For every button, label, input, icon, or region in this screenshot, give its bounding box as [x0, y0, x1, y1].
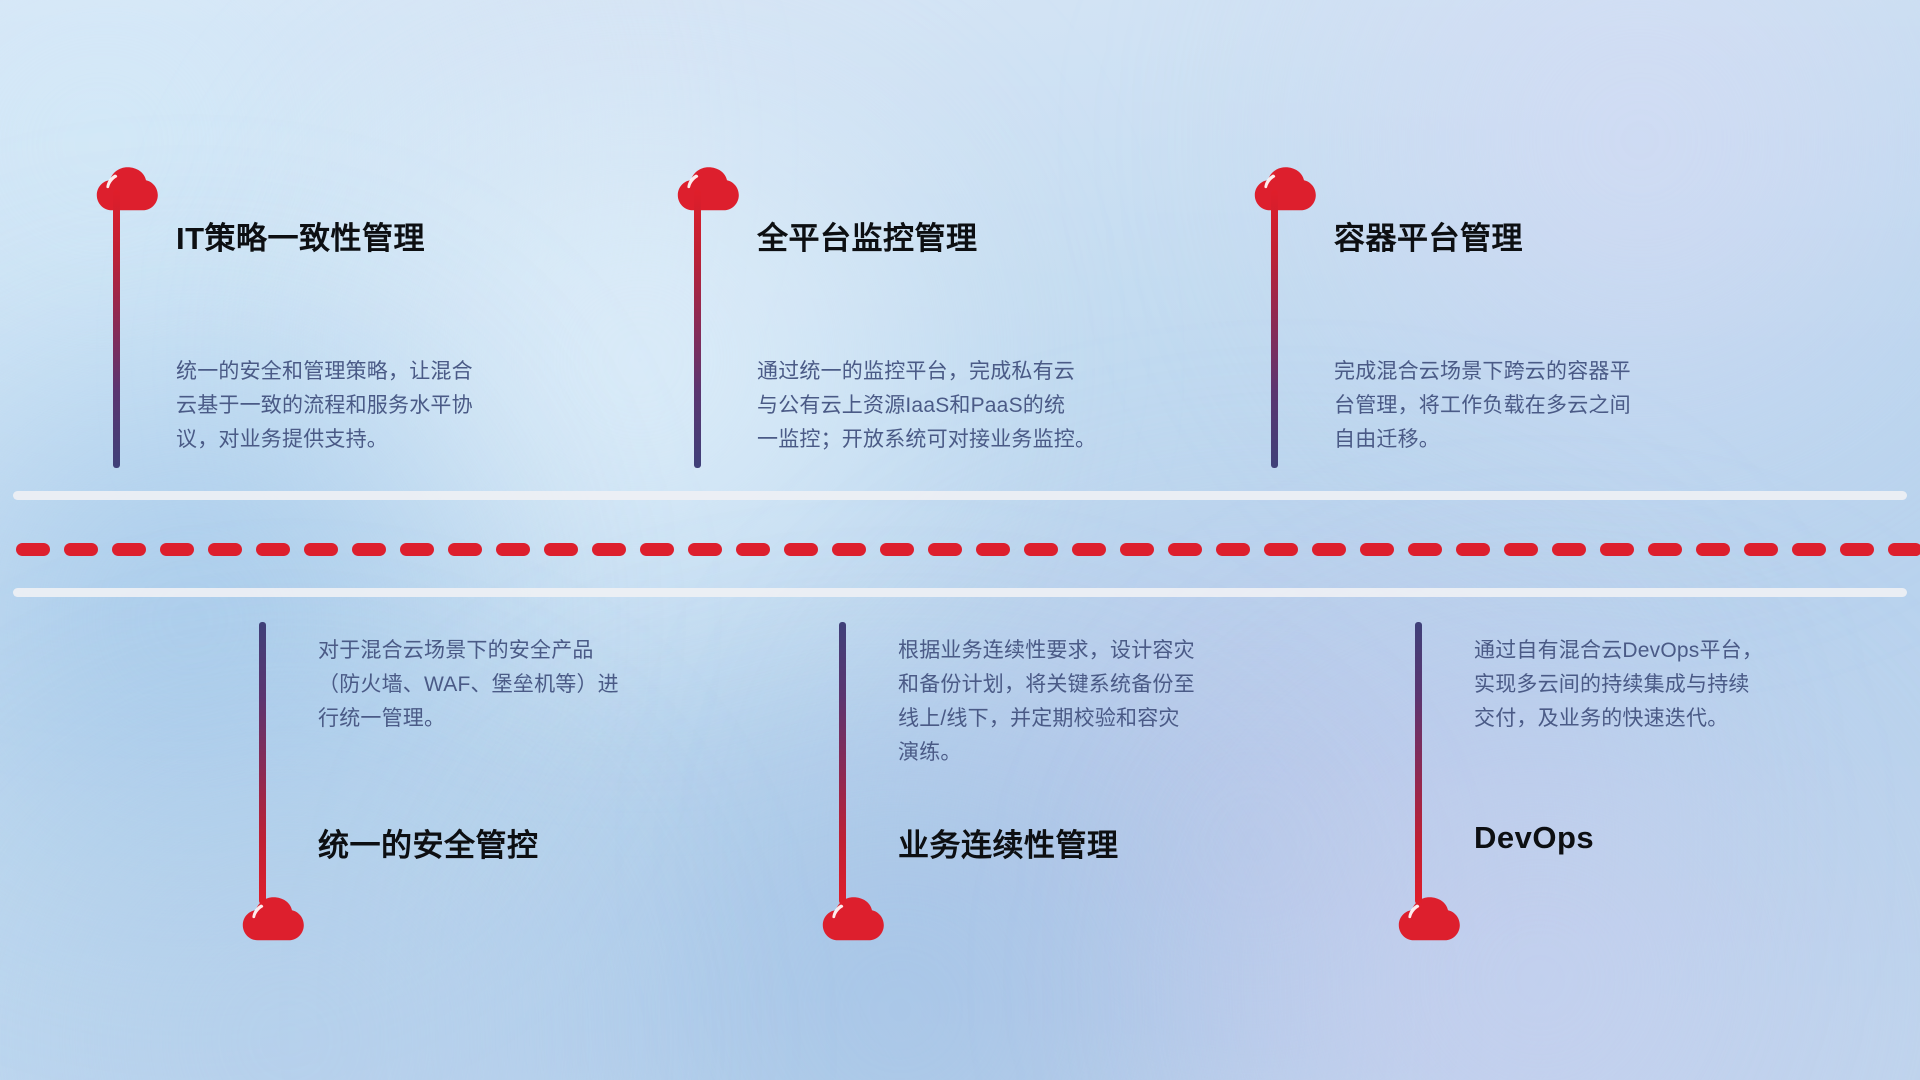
cloud-icon — [96, 165, 158, 213]
connector-line — [113, 190, 120, 468]
connector-line — [1415, 622, 1422, 904]
description-line: 对于混合云场景下的安全产品 — [318, 634, 748, 668]
feature-description: 完成混合云场景下跨云的容器平台管理，将工作负载在多云之间自由迁移。 — [1334, 355, 1784, 457]
divider-dash — [736, 543, 770, 556]
description-line: 云基于一致的流程和服务水平协 — [176, 389, 606, 423]
description-line: 通过统一的监控平台，完成私有云 — [757, 355, 1207, 389]
divider-dash — [160, 543, 194, 556]
cloud-icon — [822, 895, 884, 943]
divider-dash — [1408, 543, 1442, 556]
feature-heading: 统一的安全管控 — [318, 820, 539, 865]
description-line: 根据业务连续性要求，设计容灾 — [898, 634, 1348, 668]
description-line: 和备份计划，将关键系统备份至 — [898, 668, 1348, 702]
divider-dash — [496, 543, 530, 556]
divider-dash — [64, 543, 98, 556]
divider-dash — [400, 543, 434, 556]
description-line: 通过自有混合云DevOps平台， — [1474, 634, 1920, 668]
description-line: 统一的安全和管理策略，让混合 — [176, 355, 606, 389]
divider-dash — [112, 543, 146, 556]
divider-dash — [928, 543, 962, 556]
connector-line — [839, 622, 846, 904]
description-line: 线上/线下，并定期校验和容灾 — [898, 702, 1348, 736]
description-line: 台管理，将工作负载在多云之间 — [1334, 389, 1784, 423]
description-line: （防火墙、WAF、堡垒机等）进 — [318, 668, 748, 702]
description-line: 完成混合云场景下跨云的容器平 — [1334, 355, 1784, 389]
connector-line — [694, 190, 701, 468]
divider-dash — [1072, 543, 1106, 556]
divider-dash — [16, 543, 50, 556]
divider-dash — [1840, 543, 1874, 556]
description-line: 实现多云间的持续集成与持续 — [1474, 668, 1920, 702]
divider-dash — [1504, 543, 1538, 556]
feature-description: 通过统一的监控平台，完成私有云与公有云上资源IaaS和PaaS的统一监控；开放系… — [757, 355, 1207, 457]
description-line: 演练。 — [898, 736, 1348, 770]
cloud-icon — [1254, 165, 1316, 213]
divider-dash — [544, 543, 578, 556]
divider-dash — [1456, 543, 1490, 556]
description-line: 自由迁移。 — [1334, 423, 1784, 457]
divider-dash — [688, 543, 722, 556]
connector-line — [1271, 190, 1278, 468]
infographic-canvas: IT策略一致性管理统一的安全和管理策略，让混合云基于一致的流程和服务水平协议，对… — [0, 0, 1920, 1080]
divider-dash — [1696, 543, 1730, 556]
divider-dash — [1024, 543, 1058, 556]
divider-dash — [1552, 543, 1586, 556]
connector-line — [259, 622, 266, 904]
divider-dash — [448, 543, 482, 556]
divider-dash — [1792, 543, 1826, 556]
description-line: 交付，及业务的快速迭代。 — [1474, 702, 1920, 736]
cloud-icon — [1398, 895, 1460, 943]
divider-dash — [1360, 543, 1394, 556]
feature-description: 通过自有混合云DevOps平台，实现多云间的持续集成与持续交付，及业务的快速迭代… — [1474, 634, 1920, 736]
divider-dash — [640, 543, 674, 556]
divider-dash — [976, 543, 1010, 556]
description-line: 行统一管理。 — [318, 702, 748, 736]
cloud-icon — [242, 895, 304, 943]
divider-dash — [304, 543, 338, 556]
divider-dash — [1888, 543, 1920, 556]
divider-dash — [832, 543, 866, 556]
divider-dash — [1312, 543, 1346, 556]
feature-heading: 业务连续性管理 — [898, 820, 1119, 865]
divider-dash — [208, 543, 242, 556]
divider-dash — [1744, 543, 1778, 556]
feature-heading: 容器平台管理 — [1334, 213, 1523, 258]
divider-dash — [784, 543, 818, 556]
description-line: 议，对业务提供支持。 — [176, 423, 606, 457]
divider-dash — [1120, 543, 1154, 556]
description-line: 一监控；开放系统可对接业务监控。 — [757, 423, 1207, 457]
divider-dash — [1648, 543, 1682, 556]
divider-rail-upper — [13, 491, 1907, 500]
divider-dash — [880, 543, 914, 556]
feature-description: 对于混合云场景下的安全产品（防火墙、WAF、堡垒机等）进行统一管理。 — [318, 634, 748, 736]
divider-dash — [352, 543, 386, 556]
feature-heading: 全平台监控管理 — [757, 213, 978, 258]
divider-dash — [1216, 543, 1250, 556]
divider-dash — [1600, 543, 1634, 556]
divider-rail-lower — [13, 588, 1907, 597]
feature-description: 根据业务连续性要求，设计容灾和备份计划，将关键系统备份至线上/线下，并定期校验和… — [898, 634, 1348, 770]
divider-dash — [592, 543, 626, 556]
feature-description: 统一的安全和管理策略，让混合云基于一致的流程和服务水平协议，对业务提供支持。 — [176, 355, 606, 457]
divider-dash — [1168, 543, 1202, 556]
description-line: 与公有云上资源IaaS和PaaS的统 — [757, 389, 1207, 423]
feature-heading: IT策略一致性管理 — [176, 213, 425, 258]
divider-dashed-line — [0, 543, 1920, 556]
divider-dash — [1264, 543, 1298, 556]
divider-dash — [256, 543, 290, 556]
cloud-icon — [677, 165, 739, 213]
feature-heading: DevOps — [1474, 820, 1594, 856]
